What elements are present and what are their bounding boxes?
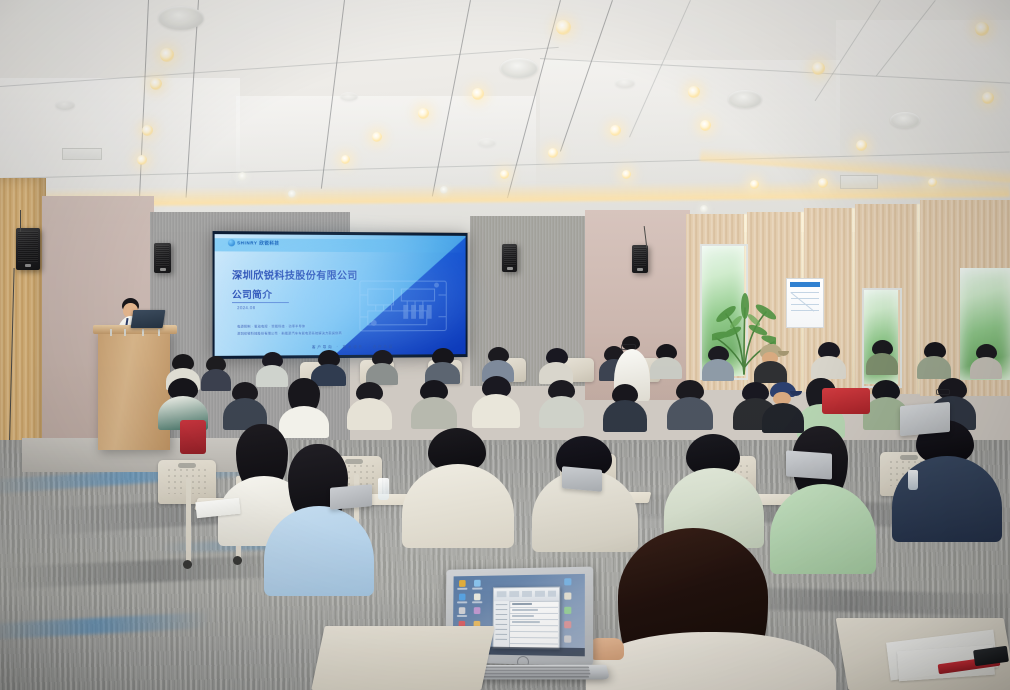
- attendee-laptop[interactable]: [900, 402, 950, 436]
- ceiling-downlight: [982, 92, 994, 104]
- spreadsheet-sidebar[interactable]: [493, 601, 510, 648]
- desktop-icon[interactable]: [564, 635, 571, 642]
- water-bottle[interactable]: [908, 470, 918, 490]
- ceiling-downlight: [341, 155, 350, 164]
- ceiling-downlight: [548, 148, 558, 158]
- desktop-icon[interactable]: [564, 578, 571, 585]
- notice-line: [791, 292, 819, 293]
- ceiling-downlight: [238, 172, 247, 181]
- notice-header: [790, 282, 820, 287]
- desktop-icon[interactable]: [564, 621, 571, 628]
- slide-logo-text: SHINRY 欣锐科技: [237, 240, 279, 246]
- speaker-cable: [20, 210, 21, 232]
- ceiling-downlight: [610, 125, 621, 136]
- wall-speaker-left-near: [154, 243, 171, 273]
- spreadsheet-window[interactable]: [492, 587, 560, 650]
- ceiling-speaker-icon: [500, 58, 538, 78]
- ceiling-downlight: [975, 22, 989, 36]
- chair-tablet-arm: [311, 626, 495, 690]
- ceiling-downlight: [440, 186, 448, 194]
- notice-diagonal: [790, 292, 814, 312]
- spreadsheet-ribbon[interactable]: [494, 588, 559, 603]
- shinry-logo-icon: [228, 239, 235, 246]
- wall-notice-board: [786, 278, 824, 328]
- glasses-icon: [936, 389, 950, 395]
- ceiling-downlight: [556, 20, 571, 35]
- ceiling-downlight: [856, 140, 867, 151]
- ceiling-downlight: [700, 120, 711, 131]
- attendee-bag: [180, 420, 206, 454]
- ceiling-speaker-icon: [340, 92, 358, 101]
- attendee-laptop[interactable]: [562, 466, 602, 491]
- ceiling-downlight: [812, 62, 825, 75]
- slide-caption-line-1: 电源控制 · 驱动电控 · 智能科技 · 功率半导体: [237, 323, 305, 328]
- slide-date: 2024.08: [237, 305, 255, 310]
- notice-line: [791, 298, 819, 299]
- attendee-laptop[interactable]: [786, 450, 832, 479]
- ceiling-downlight: [372, 132, 382, 142]
- slide-divider: [232, 302, 289, 303]
- slide-subtitle: 公司简介: [232, 287, 272, 301]
- ceiling-downlight: [750, 180, 759, 189]
- ceiling-downlight: [700, 205, 708, 213]
- attendee-laptop[interactable]: [330, 484, 372, 510]
- attendee-bag: [822, 388, 870, 414]
- desktop-icon[interactable]: [459, 607, 466, 614]
- attendee-foreground: [600, 528, 830, 690]
- ceiling-speaker-icon: [728, 90, 762, 108]
- ceiling-vent: [840, 175, 878, 189]
- wall-speaker-left-far: [16, 228, 40, 270]
- ceiling-downlight: [818, 178, 828, 188]
- desktop-icon[interactable]: [459, 594, 466, 601]
- ceiling-downlight: [500, 170, 509, 179]
- desktop-icon[interactable]: [564, 592, 571, 599]
- notice-line: [791, 310, 819, 311]
- ceiling-downlight: [928, 178, 937, 187]
- ceiling-speaker-icon: [158, 6, 204, 30]
- ceiling-downlight: [472, 88, 484, 100]
- ceiling-downlight: [150, 78, 162, 90]
- water-bottle[interactable]: [378, 478, 389, 500]
- ceiling-downlight: [288, 190, 296, 198]
- ceiling-downlight: [160, 48, 174, 62]
- ceiling-speaker-icon: [890, 112, 920, 128]
- desktop-icon[interactable]: [474, 580, 481, 587]
- ceiling-downlight: [622, 170, 631, 179]
- ceiling-downlight: [688, 86, 700, 98]
- lectern-laptop: [131, 310, 166, 328]
- desktop-icon[interactable]: [474, 593, 481, 600]
- ceiling-speaker-icon: [478, 138, 496, 147]
- ceiling-downlight: [142, 125, 153, 136]
- ceiling-speaker-icon: [55, 100, 75, 110]
- ceiling-downlight: [418, 108, 429, 119]
- desktop-icon[interactable]: [564, 607, 571, 614]
- ceiling-downlight: [137, 155, 147, 165]
- ceiling-vent: [62, 148, 102, 160]
- desktop-icon[interactable]: [459, 580, 466, 587]
- ceiling-speaker-icon: [615, 78, 635, 88]
- conference-room-photo: SHINRY 欣锐科技 深圳欣锐科技股份有限公司 公司简介 2024.08 电源…: [0, 0, 1010, 690]
- spreadsheet-grid[interactable]: [510, 602, 558, 648]
- desktop-icon[interactable]: [474, 607, 481, 614]
- wall-speaker-right-far: [632, 245, 648, 273]
- wall-speaker-right-near: [502, 244, 517, 272]
- slide-title: 深圳欣锐科技股份有限公司: [232, 267, 358, 282]
